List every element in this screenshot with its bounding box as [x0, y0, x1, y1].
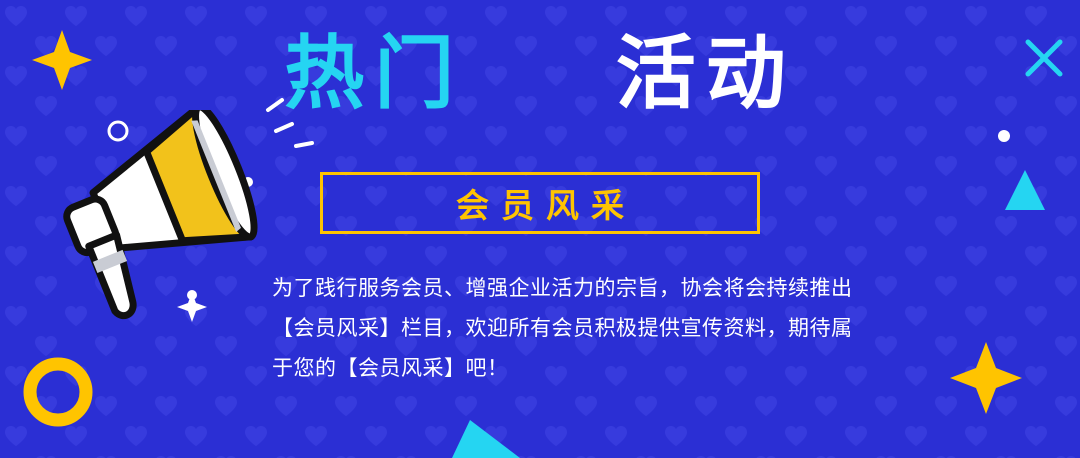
banner-subtitle-box: 会员风采: [320, 172, 760, 234]
promo-banner: 热门 活动 会员风采 为了践行服务会员、增强企业活力的宗旨，协会将会持续推出 【…: [0, 0, 1080, 458]
banner-body-text: 为了践行服务会员、增强企业活力的宗旨，协会将会持续推出 【会员风采】栏目，欢迎所…: [272, 268, 938, 388]
banner-title: 热门 活动: [0, 30, 1080, 118]
body-line-2: 【会员风采】栏目，欢迎所有会员积极提供宣传资料，期待属: [272, 308, 938, 348]
banner-subtitle: 会员风采: [444, 179, 636, 227]
body-line-3: 于您的【会员风采】吧！: [272, 348, 938, 388]
body-line-1: 为了践行服务会员、增强企业活力的宗旨，协会将会持续推出: [272, 268, 938, 308]
banner-title-part2: 活动: [616, 27, 796, 120]
banner-title-part1: 热门: [284, 27, 464, 120]
